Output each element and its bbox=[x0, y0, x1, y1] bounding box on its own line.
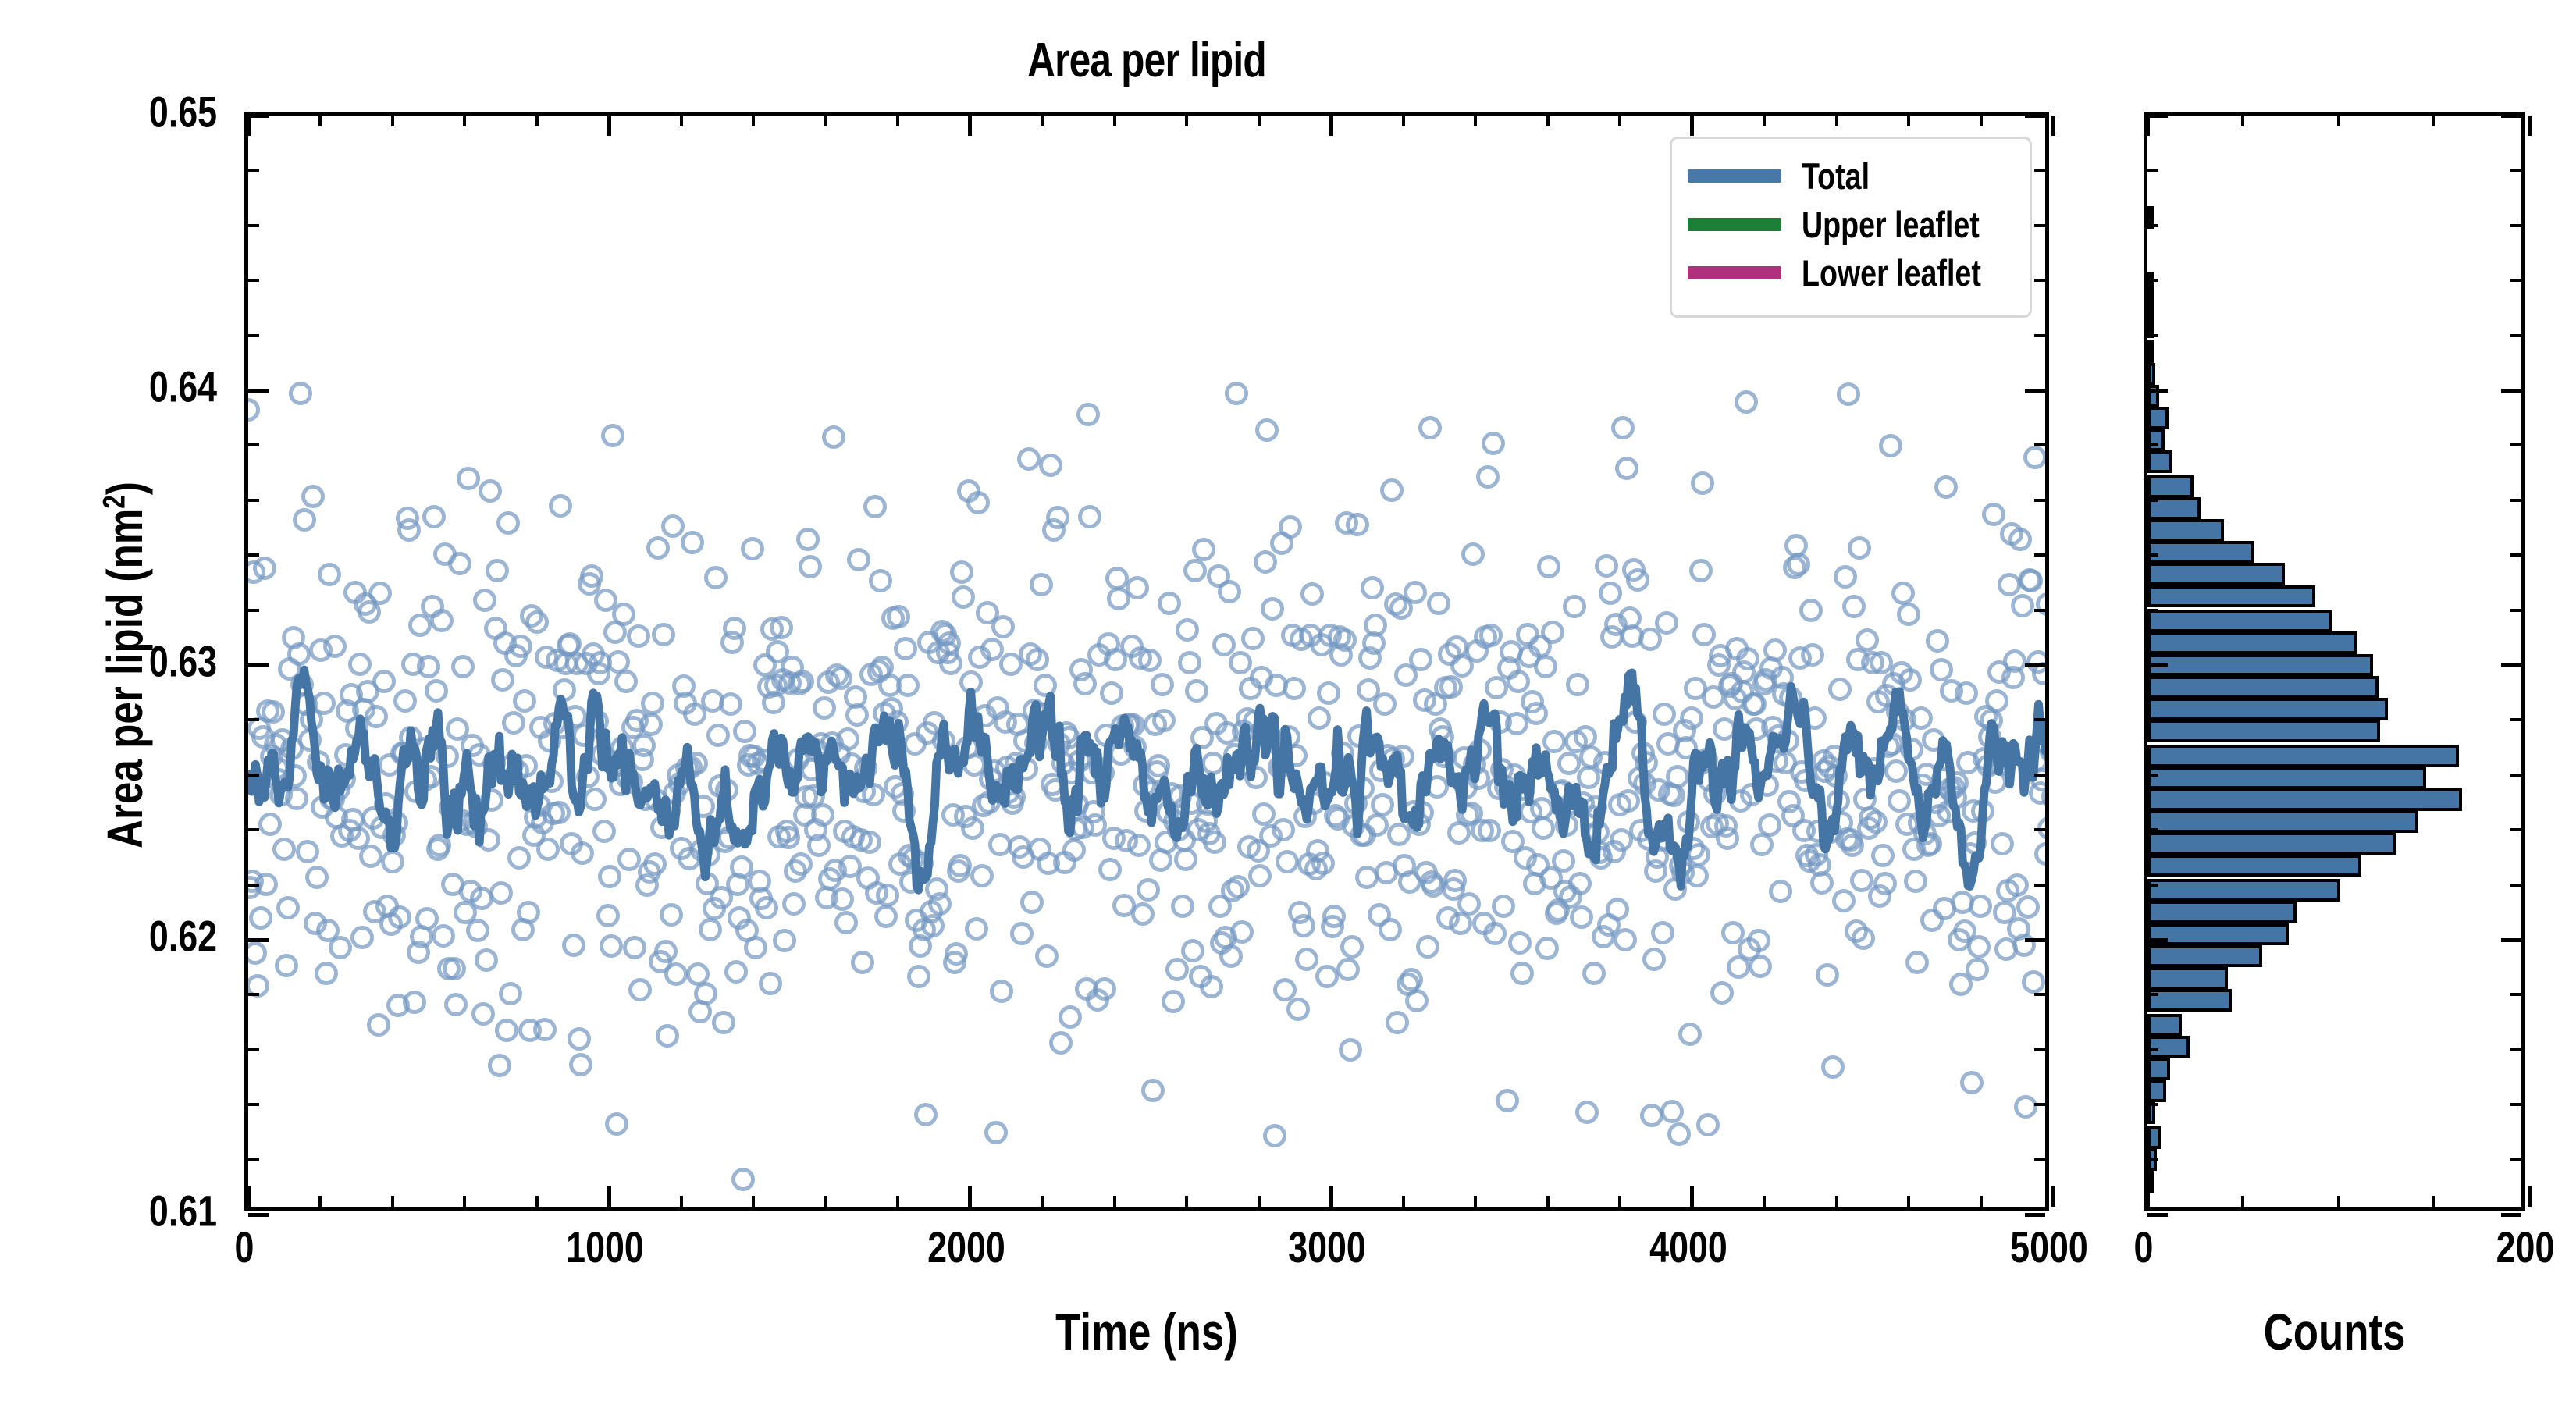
x-axis-minor-tick bbox=[1835, 1196, 1838, 1207]
legend-swatch-icon bbox=[1688, 266, 1781, 279]
hist-y-minor-tick bbox=[2147, 1158, 2158, 1161]
hist-y-minor-tick bbox=[2147, 609, 2158, 612]
histogram-bar bbox=[2147, 631, 2357, 654]
histogram-bar bbox=[2147, 585, 2315, 608]
histogram-bar bbox=[2147, 923, 2289, 946]
x-axis-major-tick bbox=[968, 1186, 972, 1207]
histogram-bar bbox=[2147, 720, 2380, 742]
histogram-bar bbox=[2147, 945, 2262, 968]
y-axis-minor-tick bbox=[248, 334, 259, 337]
histogram-bar bbox=[2147, 429, 2165, 451]
y-axis-major-tick bbox=[248, 663, 269, 667]
y-axis-minor-tick bbox=[248, 1158, 259, 1161]
legend-swatch-icon bbox=[1688, 169, 1781, 183]
legend-item-label: Lower leaflet bbox=[1802, 251, 1981, 294]
histogram-axes bbox=[2144, 112, 2525, 1211]
x-axis-minor-tick bbox=[391, 116, 394, 126]
y-axis-label-superscript: 2 bbox=[98, 495, 132, 509]
hist-x-axis-tick-label: 0 bbox=[2134, 1222, 2154, 1272]
hist-x-major-tick bbox=[2528, 1186, 2532, 1207]
x-axis-minor-tick bbox=[1763, 1196, 1766, 1207]
y-axis-minor-tick bbox=[248, 553, 259, 557]
x-axis-minor-tick bbox=[1113, 116, 1116, 126]
hist-x-major-tick bbox=[2146, 116, 2150, 136]
y-axis-minor-tick bbox=[2034, 828, 2045, 831]
y-axis-label: Area per lipid (nm2) bbox=[96, 228, 154, 1102]
histogram-bar bbox=[2147, 1036, 2190, 1058]
hist-y-major-tick bbox=[2147, 114, 2168, 118]
y-axis-major-tick bbox=[2025, 663, 2045, 667]
y-axis-minor-tick bbox=[248, 828, 259, 831]
x-axis-major-tick bbox=[2051, 116, 2055, 136]
hist-y-minor-tick bbox=[2510, 224, 2521, 227]
hist-y-minor-tick bbox=[2147, 993, 2158, 996]
y-axis-minor-tick bbox=[248, 774, 259, 777]
x-axis-minor-tick bbox=[1546, 116, 1550, 126]
x-axis-minor-tick bbox=[1980, 116, 1983, 126]
hist-y-minor-tick bbox=[2147, 774, 2158, 777]
x-axis-minor-tick bbox=[1618, 1196, 1621, 1207]
histogram-bar bbox=[2147, 407, 2169, 429]
histogram-bar bbox=[2147, 1080, 2166, 1102]
hist-x-axis-label: Counts bbox=[2182, 1302, 2487, 1361]
x-axis-minor-tick bbox=[1185, 1196, 1188, 1207]
hist-y-minor-tick bbox=[2147, 279, 2158, 282]
y-axis-minor-tick bbox=[2034, 499, 2045, 502]
hist-x-minor-tick bbox=[2337, 116, 2340, 126]
hist-y-minor-tick bbox=[2147, 443, 2158, 446]
x-axis-minor-tick bbox=[680, 116, 683, 126]
legend-item-upper-leaflet[interactable]: Upper leaflet bbox=[1688, 200, 2014, 248]
x-axis-minor-tick bbox=[1474, 116, 1477, 126]
hist-y-minor-tick bbox=[2510, 553, 2521, 557]
hist-y-minor-tick bbox=[2510, 1048, 2521, 1051]
y-axis-major-tick bbox=[248, 938, 269, 942]
y-axis-minor-tick bbox=[2034, 1103, 2045, 1106]
hist-y-minor-tick bbox=[2510, 1158, 2521, 1161]
x-axis-minor-tick bbox=[1402, 116, 1405, 126]
x-axis-minor-tick bbox=[1907, 1196, 1910, 1207]
x-axis-minor-tick bbox=[1258, 1196, 1261, 1207]
x-axis-tick-label: 5000 bbox=[2010, 1222, 2088, 1272]
hist-y-minor-tick bbox=[2510, 993, 2521, 996]
hist-y-major-tick bbox=[2147, 663, 2168, 667]
y-axis-minor-tick bbox=[248, 993, 259, 996]
x-axis-major-tick bbox=[1690, 1186, 1694, 1207]
hist-y-minor-tick bbox=[2147, 828, 2158, 831]
y-axis-tick-label: 0.61 bbox=[149, 1186, 217, 1236]
histogram-bar bbox=[2147, 855, 2361, 877]
hist-y-minor-tick bbox=[2510, 279, 2521, 282]
x-axis-minor-tick bbox=[1113, 1196, 1116, 1207]
hist-y-major-tick bbox=[2501, 1213, 2521, 1217]
histogram-plot-area bbox=[2147, 116, 2521, 1207]
legend-item-label: Upper leaflet bbox=[1802, 203, 1980, 246]
hist-y-minor-tick bbox=[2510, 718, 2521, 721]
legend-swatch-icon bbox=[1688, 218, 1781, 231]
x-axis-tick-label: 0 bbox=[235, 1222, 254, 1272]
x-axis-minor-tick bbox=[1258, 116, 1261, 126]
histogram-bar bbox=[2147, 698, 2388, 720]
histogram-bar bbox=[2147, 832, 2396, 855]
y-axis-label-text: Area per lipid (nm bbox=[97, 509, 153, 848]
y-axis-tick-label: 0.64 bbox=[149, 361, 217, 412]
y-axis-minor-tick bbox=[2034, 224, 2045, 227]
hist-y-major-tick bbox=[2147, 389, 2168, 393]
histogram-bar bbox=[2147, 879, 2340, 902]
y-axis-minor-tick bbox=[2034, 718, 2045, 721]
x-axis-major-tick bbox=[247, 116, 251, 136]
x-axis-minor-tick bbox=[824, 1196, 827, 1207]
hist-y-minor-tick bbox=[2147, 1048, 2158, 1051]
histogram-bar bbox=[2147, 475, 2194, 498]
histogram-bar bbox=[2147, 541, 2254, 564]
x-axis-minor-tick bbox=[535, 116, 539, 126]
x-axis-tick-label: 2000 bbox=[927, 1222, 1005, 1272]
y-axis-minor-tick bbox=[2034, 884, 2045, 887]
x-axis-minor-tick bbox=[680, 1196, 683, 1207]
legend-item-lower-leaflet[interactable]: Lower leaflet bbox=[1688, 248, 2014, 297]
hist-x-major-tick bbox=[2528, 116, 2532, 136]
y-axis-minor-tick bbox=[248, 718, 259, 721]
x-axis-minor-tick bbox=[896, 1196, 899, 1207]
y-axis-minor-tick bbox=[2034, 334, 2045, 337]
legend-item-label: Total bbox=[1802, 155, 1870, 197]
legend[interactable]: TotalUpper leafletLower leaflet bbox=[1670, 137, 2032, 318]
x-axis-minor-tick bbox=[1763, 116, 1766, 126]
histogram-bar bbox=[2147, 788, 2462, 811]
y-axis-major-tick bbox=[2025, 1213, 2045, 1217]
y-axis-minor-tick bbox=[248, 279, 259, 282]
y-axis-minor-tick bbox=[248, 1103, 259, 1106]
y-axis-tick-label: 0.63 bbox=[149, 636, 217, 687]
y-axis-major-tick bbox=[2025, 114, 2045, 118]
hist-y-major-tick bbox=[2501, 114, 2521, 118]
hist-y-minor-tick bbox=[2510, 499, 2521, 502]
histogram-bar bbox=[2147, 745, 2459, 767]
hist-y-minor-tick bbox=[2510, 774, 2521, 777]
x-axis-major-tick bbox=[247, 1186, 251, 1207]
y-axis-tick-label: 0.62 bbox=[149, 911, 217, 962]
y-axis-minor-tick bbox=[2034, 993, 2045, 996]
histogram-bar bbox=[2147, 294, 2154, 317]
x-axis-minor-tick bbox=[463, 116, 466, 126]
y-axis-major-tick bbox=[248, 1213, 269, 1217]
hist-y-minor-tick bbox=[2147, 334, 2158, 337]
histogram-bar bbox=[2147, 676, 2379, 699]
histogram-bar bbox=[2147, 450, 2172, 473]
hist-y-major-tick bbox=[2501, 938, 2521, 942]
histogram-bar bbox=[2147, 610, 2332, 632]
y-axis-minor-tick bbox=[248, 224, 259, 227]
y-axis-minor-tick bbox=[2034, 169, 2045, 172]
hist-x-minor-tick bbox=[2241, 116, 2244, 126]
x-axis-minor-tick bbox=[1041, 116, 1044, 126]
histogram-bar bbox=[2147, 989, 2232, 1012]
x-axis-minor-tick bbox=[752, 1196, 755, 1207]
y-axis-minor-tick bbox=[2034, 279, 2045, 282]
hist-x-axis-tick-label: 200 bbox=[2496, 1222, 2555, 1272]
x-axis-tick-label: 4000 bbox=[1649, 1222, 1727, 1272]
hist-y-major-tick bbox=[2501, 389, 2521, 393]
hist-x-minor-tick bbox=[2432, 1196, 2435, 1207]
hist-x-minor-tick bbox=[2241, 1196, 2244, 1207]
histogram-bar bbox=[2147, 767, 2426, 789]
x-axis-label: Time (ns) bbox=[425, 1302, 1869, 1361]
hist-y-major-tick bbox=[2147, 938, 2168, 942]
hist-y-minor-tick bbox=[2510, 334, 2521, 337]
hist-y-minor-tick bbox=[2147, 1103, 2158, 1106]
hist-y-minor-tick bbox=[2510, 169, 2521, 172]
histogram-bar bbox=[2147, 1058, 2170, 1080]
x-axis-major-tick bbox=[1329, 1186, 1333, 1207]
y-axis-minor-tick bbox=[2034, 443, 2045, 446]
hist-x-minor-tick bbox=[2337, 1196, 2340, 1207]
figure-canvas: Area per lipid Area per lipid (nm2) Time… bbox=[0, 0, 2576, 1405]
histogram-bar bbox=[2147, 810, 2418, 833]
y-axis-minor-tick bbox=[2034, 774, 2045, 777]
hist-y-minor-tick bbox=[2510, 828, 2521, 831]
x-axis-major-tick bbox=[1329, 116, 1333, 136]
x-axis-major-tick bbox=[1690, 116, 1694, 136]
x-axis-minor-tick bbox=[1618, 116, 1621, 126]
x-axis-minor-tick bbox=[463, 1196, 466, 1207]
x-axis-minor-tick bbox=[1980, 1196, 1983, 1207]
histogram-bar bbox=[2147, 340, 2154, 363]
x-axis-minor-tick bbox=[1835, 116, 1838, 126]
histogram-bar bbox=[2147, 272, 2154, 294]
x-axis-major-tick bbox=[968, 116, 972, 136]
x-axis-minor-tick bbox=[1546, 1196, 1550, 1207]
y-axis-major-tick bbox=[248, 389, 269, 393]
hist-x-minor-tick bbox=[2432, 116, 2435, 126]
hist-y-major-tick bbox=[2147, 1213, 2168, 1217]
y-axis-minor-tick bbox=[248, 443, 259, 446]
x-axis-major-tick bbox=[2051, 1186, 2055, 1207]
y-axis-minor-tick bbox=[248, 169, 259, 172]
x-axis-minor-tick bbox=[1041, 1196, 1044, 1207]
hist-x-major-tick bbox=[2146, 1186, 2150, 1207]
histogram-bar bbox=[2147, 654, 2373, 677]
y-axis-minor-tick bbox=[2034, 553, 2045, 557]
x-axis-minor-tick bbox=[1185, 116, 1188, 126]
x-axis-tick-label: 1000 bbox=[567, 1222, 645, 1272]
y-axis-minor-tick bbox=[248, 884, 259, 887]
histogram-bar bbox=[2147, 363, 2155, 386]
x-axis-minor-tick bbox=[1402, 1196, 1405, 1207]
histogram-bar bbox=[2147, 519, 2224, 542]
y-axis-minor-tick bbox=[248, 609, 259, 612]
histogram-bar bbox=[2147, 1126, 2161, 1149]
hist-y-minor-tick bbox=[2147, 499, 2158, 502]
y-axis-tick-label: 0.65 bbox=[149, 87, 217, 137]
y-axis-major-tick bbox=[2025, 938, 2045, 942]
hist-y-minor-tick bbox=[2147, 553, 2158, 557]
y-axis-minor-tick bbox=[248, 1048, 259, 1051]
hist-y-major-tick bbox=[2501, 663, 2521, 667]
hist-y-minor-tick bbox=[2510, 884, 2521, 887]
x-axis-minor-tick bbox=[896, 116, 899, 126]
y-axis-minor-tick bbox=[2034, 1158, 2045, 1161]
x-axis-tick-label: 3000 bbox=[1288, 1222, 1366, 1272]
y-axis-major-tick bbox=[2025, 389, 2045, 393]
hist-y-minor-tick bbox=[2510, 443, 2521, 446]
x-axis-minor-tick bbox=[535, 1196, 539, 1207]
x-axis-major-tick bbox=[607, 1186, 611, 1207]
hist-y-minor-tick bbox=[2147, 169, 2158, 172]
x-axis-minor-tick bbox=[1474, 1196, 1477, 1207]
y-axis-minor-tick bbox=[2034, 1048, 2045, 1051]
histogram-bar bbox=[2147, 967, 2228, 990]
hist-y-minor-tick bbox=[2510, 1103, 2521, 1106]
histogram-bar bbox=[2147, 1014, 2182, 1037]
y-axis-label-tail: ) bbox=[97, 482, 153, 495]
hist-y-minor-tick bbox=[2147, 884, 2158, 887]
x-axis-minor-tick bbox=[824, 116, 827, 126]
x-axis-major-tick bbox=[607, 116, 611, 136]
x-axis-minor-tick bbox=[318, 116, 322, 126]
x-axis-minor-tick bbox=[318, 1196, 322, 1207]
histogram-bar bbox=[2147, 563, 2285, 585]
y-axis-major-tick bbox=[248, 114, 269, 118]
x-axis-minor-tick bbox=[1907, 116, 1910, 126]
histogram-bar bbox=[2147, 901, 2297, 923]
hist-y-minor-tick bbox=[2147, 718, 2158, 721]
x-axis-minor-tick bbox=[752, 116, 755, 126]
legend-item-total[interactable]: Total bbox=[1688, 151, 2014, 200]
hist-y-minor-tick bbox=[2147, 224, 2158, 227]
x-axis-minor-tick bbox=[391, 1196, 394, 1207]
y-axis-minor-tick bbox=[248, 499, 259, 502]
hist-y-minor-tick bbox=[2510, 609, 2521, 612]
y-axis-minor-tick bbox=[2034, 609, 2045, 612]
page-title: Area per lipid bbox=[425, 33, 1869, 88]
